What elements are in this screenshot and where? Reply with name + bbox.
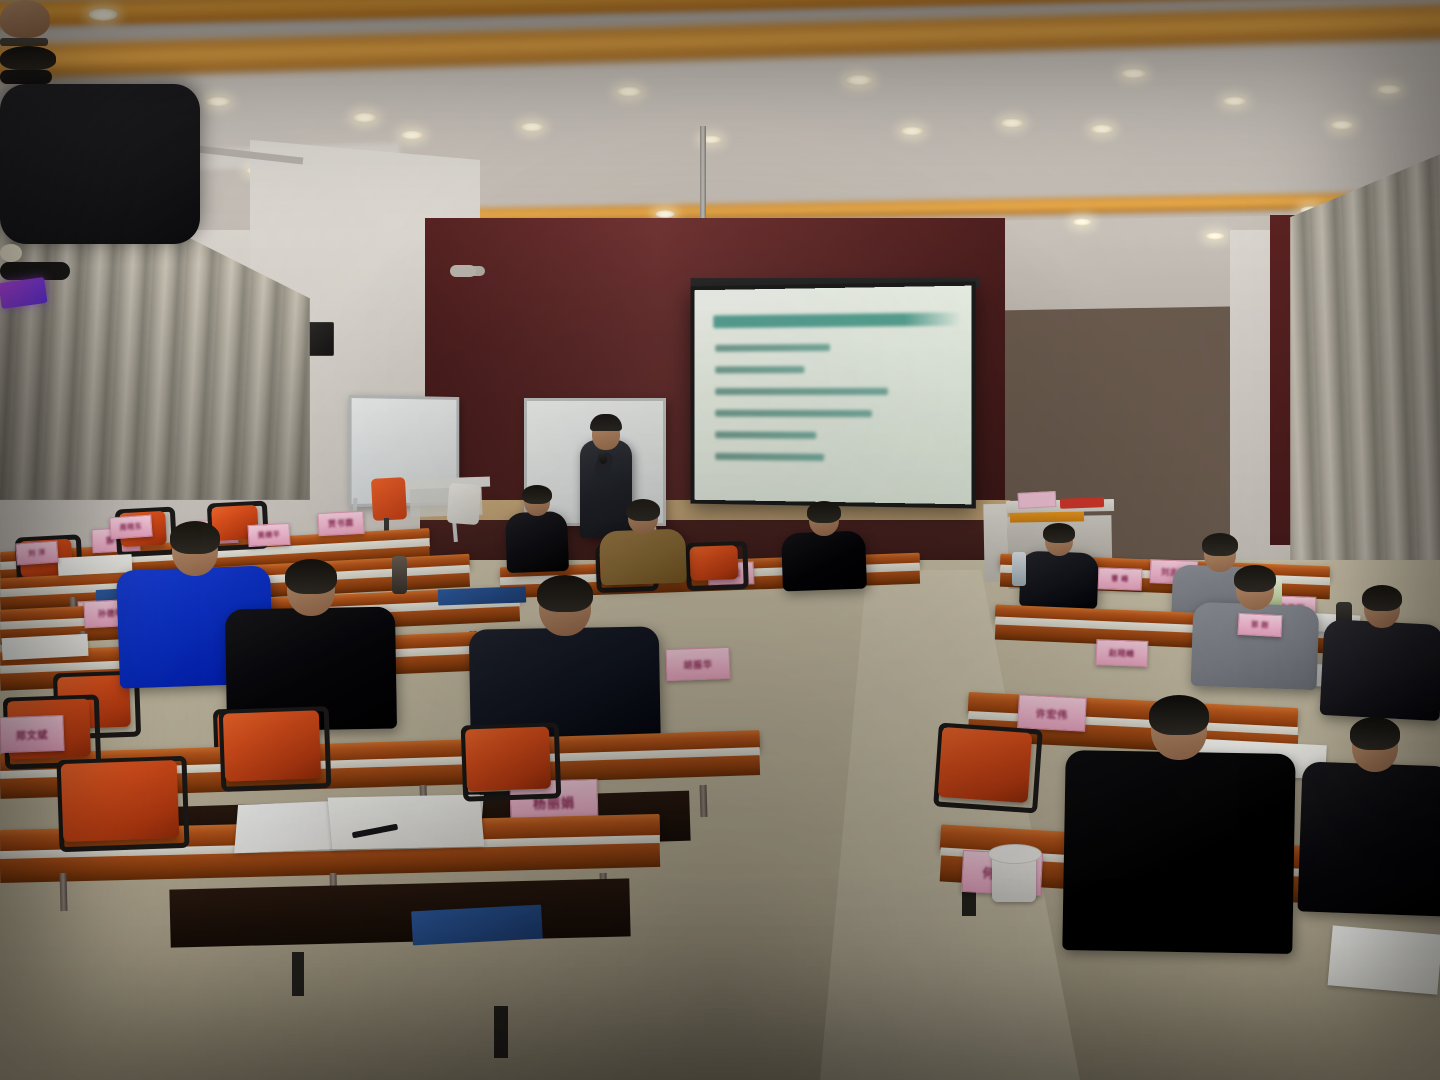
name-placard-label: 贾书霖 xyxy=(328,517,354,529)
attendee-body xyxy=(505,511,569,573)
handout-paper xyxy=(1328,925,1440,994)
water-bottle xyxy=(1012,552,1026,586)
chair-seatback[interactable] xyxy=(689,545,738,581)
name-placard: 贾书霖 xyxy=(317,511,364,536)
attendee-hair xyxy=(626,499,660,521)
desk-understorage xyxy=(169,878,630,947)
snack-item xyxy=(0,244,22,262)
attendee-hair xyxy=(0,46,56,70)
name-placard-label: 刘 洋 xyxy=(28,547,46,558)
chair-seatback[interactable] xyxy=(938,727,1033,803)
classroom-photo: 郭 刚周嘉元贾书霖张大源王 松李建华刘志强陈建军赵晓峰孙德明马国庆胡振华杨丽娟郑… xyxy=(0,0,1440,1080)
chair-stem xyxy=(292,952,304,996)
blue-folder xyxy=(411,905,543,946)
name-placard: 周晓东 xyxy=(109,515,152,540)
name-placard: 郭 刚 xyxy=(1237,613,1282,637)
name-placard: 黄继平 xyxy=(247,523,290,547)
attendee-hair xyxy=(1202,533,1238,556)
chair-stem xyxy=(494,1006,508,1058)
name-placard-label: 郭 刚 xyxy=(1251,620,1269,631)
smartphone-screen[interactable] xyxy=(0,277,48,309)
desk-leg xyxy=(699,785,707,817)
coffee-cup-lid xyxy=(988,844,1042,864)
attendee-body xyxy=(1297,761,1440,916)
attendee-body xyxy=(1019,551,1099,610)
blue-folder xyxy=(438,586,527,605)
attendee-hair xyxy=(1149,695,1209,735)
attendee-body xyxy=(781,531,867,592)
attendee-hair xyxy=(1043,523,1075,543)
name-placard-label: 曹 峰 xyxy=(1111,574,1129,585)
name-placard-label: 胡振华 xyxy=(683,657,713,671)
attendee-hair xyxy=(1362,585,1402,611)
open-booklet-right-page xyxy=(328,794,485,849)
attendee-hair xyxy=(1350,717,1400,750)
attendee-hair xyxy=(537,575,593,612)
name-placard-label: 郑文斌 xyxy=(16,726,49,742)
desk-leg xyxy=(60,873,68,911)
attendee-hair xyxy=(170,521,220,554)
foreground-chair[interactable] xyxy=(0,84,200,244)
chair-seatback[interactable] xyxy=(465,727,551,792)
attendee-hair xyxy=(1234,565,1276,592)
name-placard: 郑文斌 xyxy=(0,715,65,753)
attendee-body xyxy=(1320,619,1440,721)
name-placard-label: 黄继平 xyxy=(257,529,280,540)
attendee-body xyxy=(1062,750,1295,954)
name-placard: 曹 峰 xyxy=(1098,567,1143,591)
eyeglasses-icon xyxy=(0,38,48,46)
name-placard-label: 许宏伟 xyxy=(1035,705,1068,722)
name-placard: 刘 洋 xyxy=(15,541,58,566)
thermos-bottle xyxy=(392,556,407,594)
name-placard: 赵晓峰 xyxy=(1096,639,1149,667)
seating-area: 郭 刚周嘉元贾书霖张大源王 松李建华刘志强陈建军赵晓峰孙德明马国庆胡振华杨丽娟郑… xyxy=(0,0,1440,1080)
name-placard: 胡振华 xyxy=(665,647,730,681)
name-placard-label: 赵晓峰 xyxy=(1109,647,1135,659)
attendee-hair xyxy=(285,559,337,594)
name-placard-label: 周晓东 xyxy=(119,521,142,533)
chair-seatback[interactable] xyxy=(223,710,321,781)
chair-seatback[interactable] xyxy=(61,760,180,842)
chair-base xyxy=(0,70,52,84)
attendee-hair xyxy=(522,485,552,504)
attendee-hair xyxy=(807,501,841,523)
name-placard: 许宏伟 xyxy=(1017,694,1087,732)
attendee-body xyxy=(599,529,687,586)
attendee-head-glasses xyxy=(0,0,50,38)
handout-paper xyxy=(1,634,88,660)
